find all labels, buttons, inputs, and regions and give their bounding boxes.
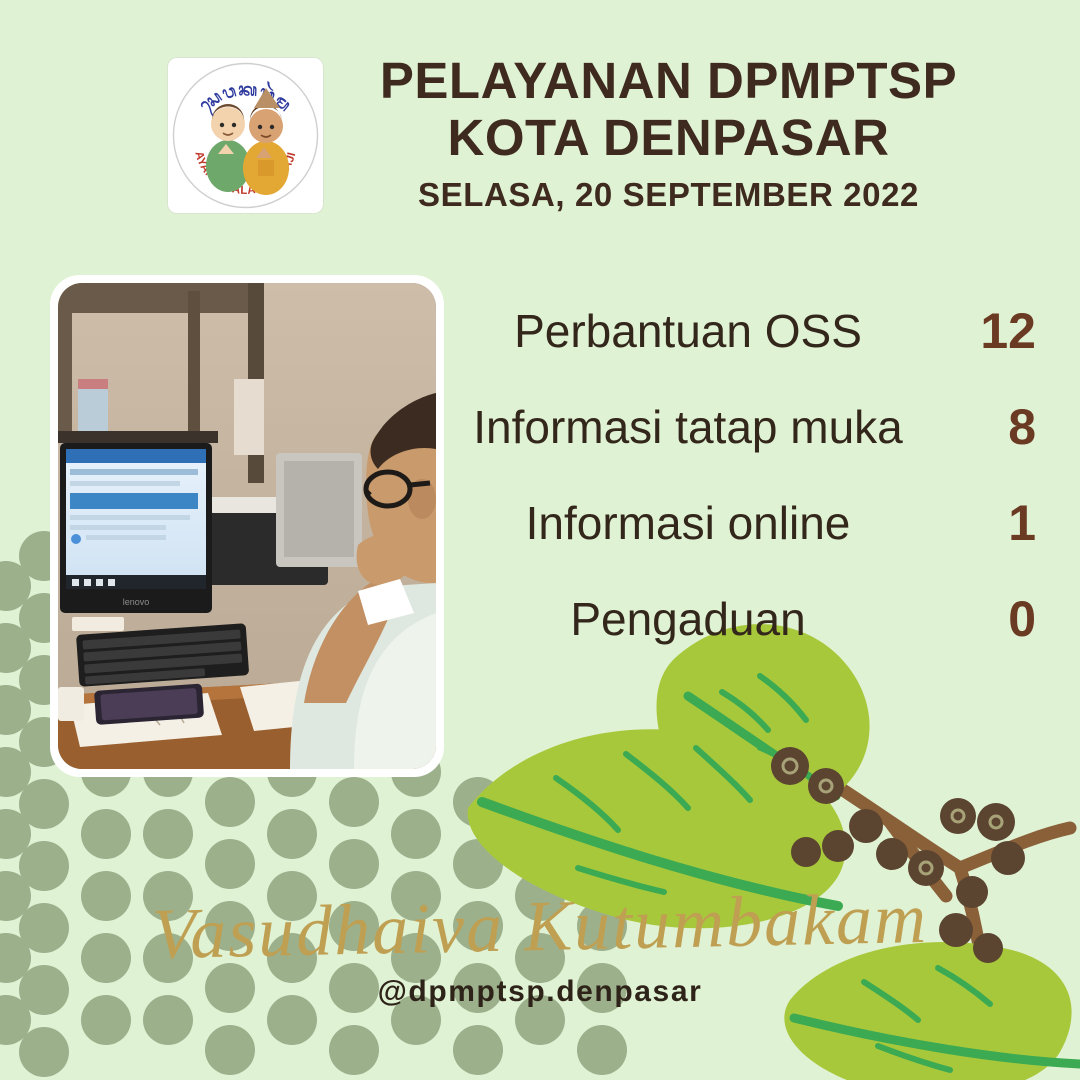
stat-label: Pengaduan [446,588,940,650]
table-row: Perbantuan OSS 12 [446,300,1036,362]
service-stats-list: Perbantuan OSS 12 Informasi tatap muka 8… [446,300,1036,684]
stat-label: Perbantuan OSS [446,300,940,362]
sewakadarma-logo: ᬲᬾᬯᬓᬥᬃᬫ MELAYANI ADALAH KEWAJIBAN [168,58,323,213]
stat-label: Informasi online [446,492,940,554]
page-title-line-2: KOTA DENPASAR [343,109,994,166]
stat-value: 12 [940,300,1036,362]
title-block: PELAYANAN DPMPTSP KOTA DENPASAR SELASA, … [323,52,1080,215]
stat-label: Informasi tatap muka [446,396,940,458]
tagline-script: Vasudhaiva Kutumbakam [0,869,1080,984]
table-row: Informasi online 1 [446,492,1036,554]
table-row: Pengaduan 0 [446,588,1036,650]
office-service-photo: lenovo [58,283,436,769]
svg-text:lenovo: lenovo [123,597,150,607]
table-row: Informasi tatap muka 8 [446,396,1036,458]
social-handle: @dpmptsp.denpasar [0,975,1080,1009]
stat-value: 8 [940,396,1036,458]
photo-frame: lenovo [50,275,444,777]
report-date: SELASA, 20 SEPTEMBER 2022 [343,175,994,215]
stat-value: 1 [940,492,1036,554]
page-title-line-1: PELAYANAN DPMPTSP [343,52,994,109]
poster-canvas: ᬲᬾᬯᬓᬥᬃᬫ MELAYANI ADALAH KEWAJIBAN [0,0,1080,1080]
poster-header: ᬲᬾᬯᬓᬥᬃᬫ MELAYANI ADALAH KEWAJIBAN [0,52,1080,237]
stat-value: 0 [940,588,1036,650]
